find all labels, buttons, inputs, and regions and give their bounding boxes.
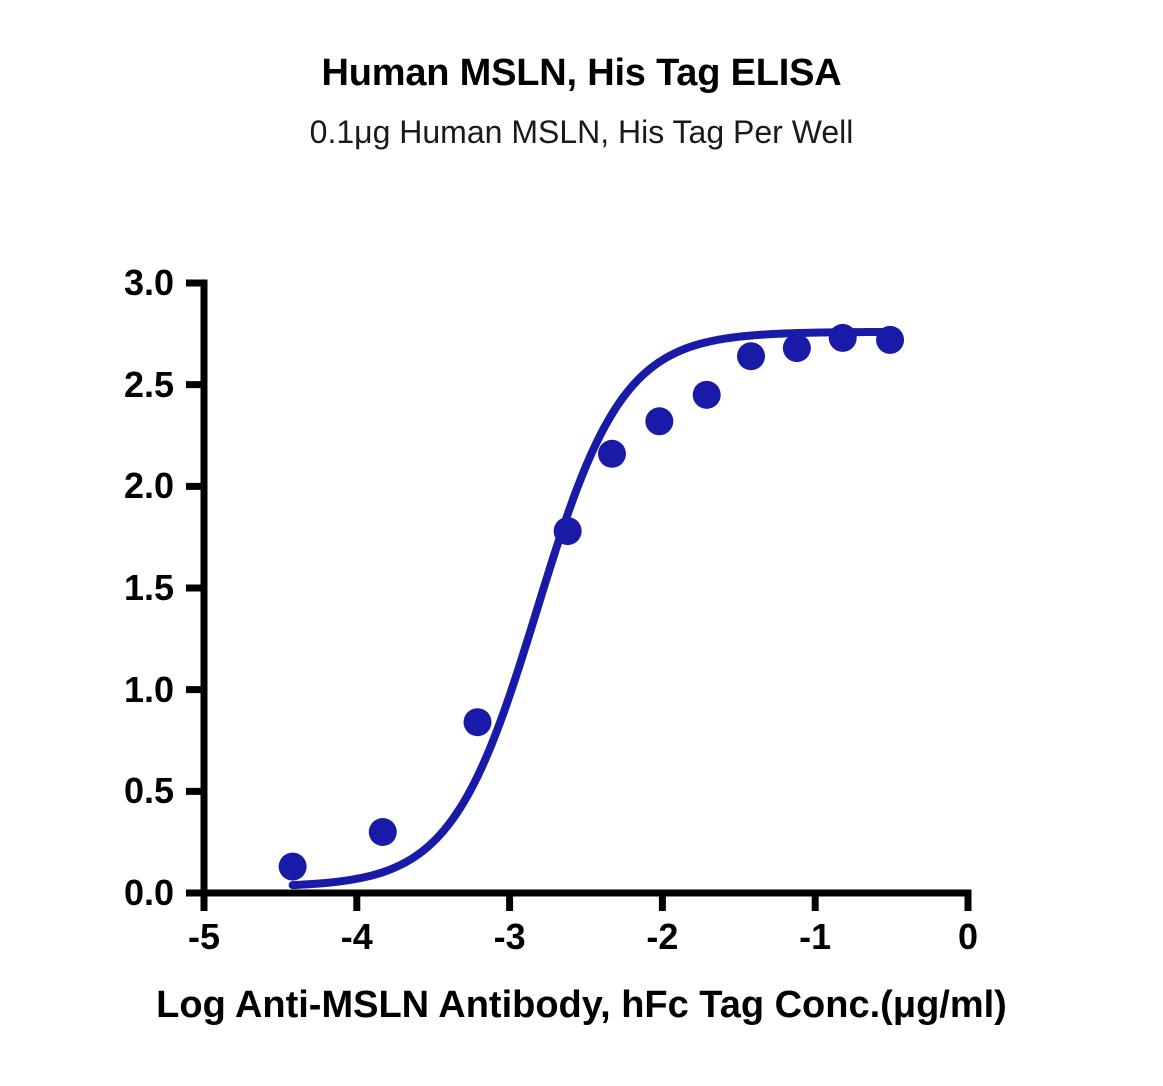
data-point-marker xyxy=(737,342,765,370)
data-point-markers xyxy=(279,324,904,881)
y-tick-label: 1.5 xyxy=(54,570,174,606)
x-tick-label: -1 xyxy=(775,919,855,955)
y-tick-label: 2.5 xyxy=(54,367,174,403)
x-tick-label: -5 xyxy=(164,919,244,955)
y-tick-label: 3.0 xyxy=(54,265,174,301)
x-tick-label: -2 xyxy=(622,919,702,955)
y-tick-label: 2.0 xyxy=(54,468,174,504)
x-tick-label: 0 xyxy=(928,919,1008,955)
y-tick-label: 1.0 xyxy=(54,672,174,708)
axis-lines xyxy=(201,283,968,893)
data-point-marker xyxy=(598,440,626,468)
data-point-marker xyxy=(693,381,721,409)
x-tick-label: -4 xyxy=(317,919,397,955)
y-tick-label: 0.0 xyxy=(54,875,174,911)
x-tick-label: -3 xyxy=(470,919,550,955)
fit-curve xyxy=(293,332,890,885)
data-point-marker xyxy=(464,708,492,736)
data-point-marker xyxy=(829,324,857,352)
data-point-marker xyxy=(876,326,904,354)
data-point-marker xyxy=(783,334,811,362)
elisa-chart-figure: Human MSLN, His Tag ELISA 0.1μg Human MS… xyxy=(0,0,1163,1086)
data-point-marker xyxy=(369,818,397,846)
data-point-marker xyxy=(279,853,307,881)
data-point-marker xyxy=(645,407,673,435)
plot-area: 0.00.51.01.52.02.53.0 -5-4-3-2-10 xyxy=(204,283,968,893)
y-tick-label: 0.5 xyxy=(54,773,174,809)
data-point-marker xyxy=(554,517,582,545)
